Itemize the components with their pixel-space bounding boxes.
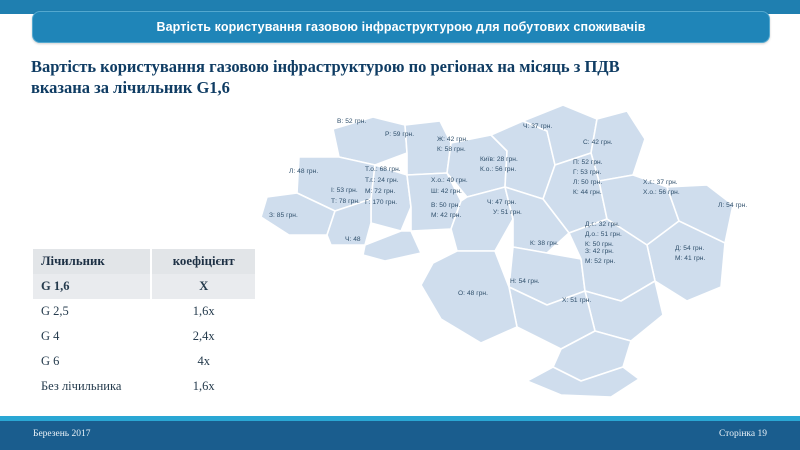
table-cell-meter: G 1,6 — [33, 274, 151, 299]
table-cell-meter: G 6 — [33, 349, 151, 374]
map-label-kryvyi-rih: К: 50 грн. — [585, 240, 614, 250]
map-label-kremenchuk: К: 44 грн. — [573, 188, 602, 198]
map-label-ivano: І: 53 грн. — [331, 186, 358, 196]
map-label-odesa: О: 48 грн. — [458, 289, 488, 299]
map-label-dnipro-city: Д.г.: 32 грн. — [585, 220, 620, 230]
map-label-hadiach: Г: 53 грн. — [573, 168, 601, 178]
ukraine-regions-map: В: 52 грн. Р: 59 грн. Ж: 42 грн. К: 58 г… — [255, 95, 800, 405]
table-header-meter: Лічильник — [33, 249, 151, 274]
table-cell-coefficient: 4х — [151, 349, 255, 374]
map-label-poltava: П: 52 грн. — [573, 158, 603, 168]
table-cell-meter: G 4 — [33, 324, 151, 349]
footer-page-number: Сторінка 19 — [719, 429, 767, 439]
map-label-kyiv-oblast: К.о.: 56 грн. — [480, 165, 516, 175]
footer-date: Березень 2017 — [33, 429, 91, 439]
map-label-kirovohrad: К: 38 грн. — [530, 239, 559, 249]
map-label-chernivtsi: Ч: 48 — [345, 235, 361, 245]
map-label-donetsk: Д: 54 грн. — [675, 244, 704, 254]
page-subtitle: Вартість користування газовою інфраструк… — [31, 56, 776, 98]
table-header-coefficient: коефіцієнт — [151, 249, 255, 274]
map-label-lviv: Л: 48 грн. — [289, 167, 318, 177]
map-label-chernihiv: Ч: 37 грн. — [523, 122, 552, 132]
table-cell-coefficient: X — [151, 274, 255, 299]
table-row: G 6 4х — [33, 349, 255, 374]
map-label-lubny: Л: 50 грн. — [573, 178, 602, 188]
table-row: G 4 2,4х — [33, 324, 255, 349]
banner-title-pill: Вартість користування газовою інфраструк… — [32, 11, 770, 43]
table-cell-coefficient: 2,4х — [151, 324, 255, 349]
map-label-zhytomyr: Ж: 42 грн. — [437, 135, 468, 145]
map-label-vinnytsia: В: 50 грн. — [431, 201, 460, 211]
map-label-dnipro-oblast: Д.о.: 51 грн. — [585, 230, 622, 240]
map-label-mariupol: М: 41 грн. — [675, 254, 705, 264]
table-cell-meter: Без лічильника — [33, 374, 151, 399]
table-cell-coefficient: 1,6х — [151, 374, 255, 399]
table-cell-coefficient: 1,6х — [151, 299, 255, 324]
map-label-mohyliv: М: 42 грн. — [431, 211, 461, 221]
map-label-kherson: Х: 51 грн. — [562, 296, 591, 306]
map-label-luhansk: Л: 54 грн. — [718, 201, 747, 211]
table-header-row: Лічильник коефіцієнт — [33, 249, 255, 274]
map-label-volyn: В: 52 грн. — [337, 117, 366, 127]
meter-coefficient-table: Лічильник коефіцієнт G 1,6 X G 2,5 1,6х … — [33, 249, 255, 399]
map-label-truskavets: Т: 78 грн. — [331, 197, 360, 207]
table-row: G 2,5 1,6х — [33, 299, 255, 324]
map-label-rivne: Р: 59 грн. — [385, 130, 414, 140]
map-label-transcarpathia: З: 85 грн. — [269, 211, 298, 221]
subtitle-line-1: Вартість користування газовою інфраструк… — [31, 56, 776, 77]
map-label-ternopil-g: Т.г.: 24 грн. — [365, 176, 399, 186]
map-label-kharkiv-oblast: Х.о.: 56 грн. — [643, 188, 680, 198]
map-shape — [255, 95, 800, 405]
map-label-cherkasy: Ч: 47 грн. — [487, 198, 516, 208]
map-label-kyiv-city: Київ: 28 грн. — [480, 155, 518, 165]
table-row: Без лічильника 1,6х — [33, 374, 255, 399]
map-label-halych: Г: 170 грн. — [365, 198, 397, 208]
map-label-sumy: С: 42 грн. — [583, 138, 613, 148]
region-chernivtsi — [363, 231, 421, 261]
banner-title-text: Вартість користування газовою інфраструк… — [156, 20, 645, 34]
map-label-uman: У: 51 грн. — [493, 208, 522, 218]
table-cell-meter: G 2,5 — [33, 299, 151, 324]
footer-bar: Березень 2017 Сторінка 19 — [0, 421, 800, 450]
map-label-mukachevo: М: 72 грн. — [365, 187, 395, 197]
map-label-ternopil-o: Т.о.: 68 грн. — [365, 165, 401, 175]
map-label-mykolaiv: Н: 54 грн. — [510, 277, 540, 287]
map-label-kharkiv-city: Х.г.: 37 грн. — [643, 178, 678, 188]
table-row: G 1,6 X — [33, 274, 255, 299]
map-label-melitopol: М: 52 грн. — [585, 257, 615, 267]
map-label-khmelnytskyi-oblast: Х.о.: 49 грн. — [431, 176, 468, 186]
map-label-korosten: К: 58 грн. — [437, 145, 466, 155]
map-label-shepetivka: Ш: 42 грн. — [431, 187, 462, 197]
